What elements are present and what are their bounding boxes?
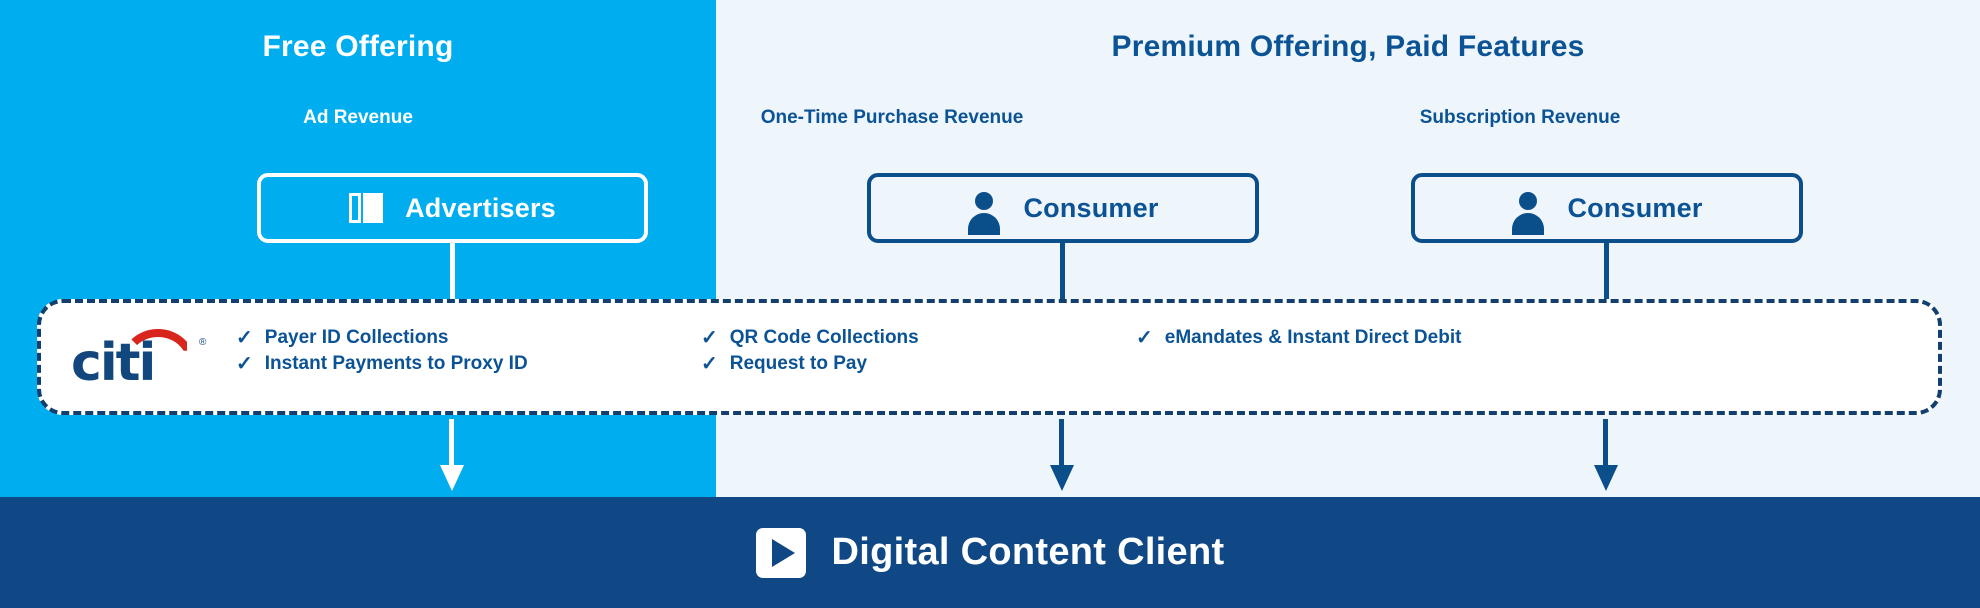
- arrow-onetime-to-client: [1050, 419, 1074, 495]
- check-icon: ✓: [1136, 325, 1153, 351]
- premium-offering-panel: [716, 0, 1980, 497]
- check-icon: ✓: [701, 351, 718, 377]
- feature-label: Request to Pay: [730, 351, 867, 377]
- footer-label: Digital Content Client: [832, 531, 1225, 574]
- person-icon: [1511, 191, 1545, 225]
- feature-group-payer-id: ✓ Payer ID Collections ✓ Instant Payment…: [236, 325, 656, 377]
- feature-label: eMandates & Instant Direct Debit: [1165, 325, 1462, 351]
- ad-revenue-label: Ad Revenue: [0, 107, 716, 129]
- feature-label: QR Code Collections: [730, 325, 919, 351]
- check-icon: ✓: [236, 351, 253, 377]
- check-icon: ✓: [236, 325, 253, 351]
- actor-box-advertisers[interactable]: Advertisers: [257, 173, 648, 243]
- connector-consumer-subscription-to-band: [1604, 243, 1609, 301]
- feature-item: ✓ Instant Payments to Proxy ID: [236, 351, 656, 377]
- connector-advertisers-to-band: [450, 243, 455, 301]
- arrow-free-to-client: [440, 419, 464, 495]
- feature-item: ✓ QR Code Collections: [701, 325, 1121, 351]
- feature-item: ✓ Request to Pay: [701, 351, 1121, 377]
- feature-item: ✓ Payer ID Collections: [236, 325, 656, 351]
- feature-label: Instant Payments to Proxy ID: [265, 351, 528, 377]
- check-icon: ✓: [701, 325, 718, 351]
- actor-label-consumer-onetime: Consumer: [1023, 193, 1158, 224]
- feature-group-emandates: ✓ eMandates & Instant Direct Debit: [1136, 325, 1466, 351]
- registered-mark: ®: [199, 337, 206, 348]
- revenue-flow-diagram: Free Offering Premium Offering, Paid Fea…: [0, 0, 1980, 608]
- premium-offering-title: Premium Offering, Paid Features: [716, 30, 1980, 64]
- ad-layout-icon: [349, 193, 383, 223]
- actor-label-consumer-subscription: Consumer: [1567, 193, 1702, 224]
- capability-band: citi ® ✓ Payer ID Collections ✓ Instant …: [37, 299, 1942, 415]
- feature-group-qr-code: ✓ QR Code Collections ✓ Request to Pay: [701, 325, 1121, 377]
- feature-item: ✓ eMandates & Instant Direct Debit: [1136, 325, 1466, 351]
- arrow-subscription-to-client: [1594, 419, 1618, 495]
- subscription-revenue-label: Subscription Revenue: [1240, 107, 1800, 129]
- citi-logo: citi ®: [71, 325, 211, 391]
- actor-label-advertisers: Advertisers: [405, 193, 556, 224]
- feature-label: Payer ID Collections: [265, 325, 449, 351]
- connector-consumer-onetime-to-band: [1060, 243, 1065, 301]
- actor-box-consumer-subscription[interactable]: Consumer: [1411, 173, 1803, 243]
- actor-box-consumer-onetime[interactable]: Consumer: [867, 173, 1259, 243]
- one-time-purchase-revenue-label: One-Time Purchase Revenue: [716, 107, 1068, 129]
- digital-content-client-bar: Digital Content Client: [0, 497, 1980, 608]
- person-icon: [967, 191, 1001, 225]
- play-icon: [756, 528, 806, 578]
- free-offering-title: Free Offering: [0, 30, 716, 64]
- free-offering-panel: [0, 0, 716, 497]
